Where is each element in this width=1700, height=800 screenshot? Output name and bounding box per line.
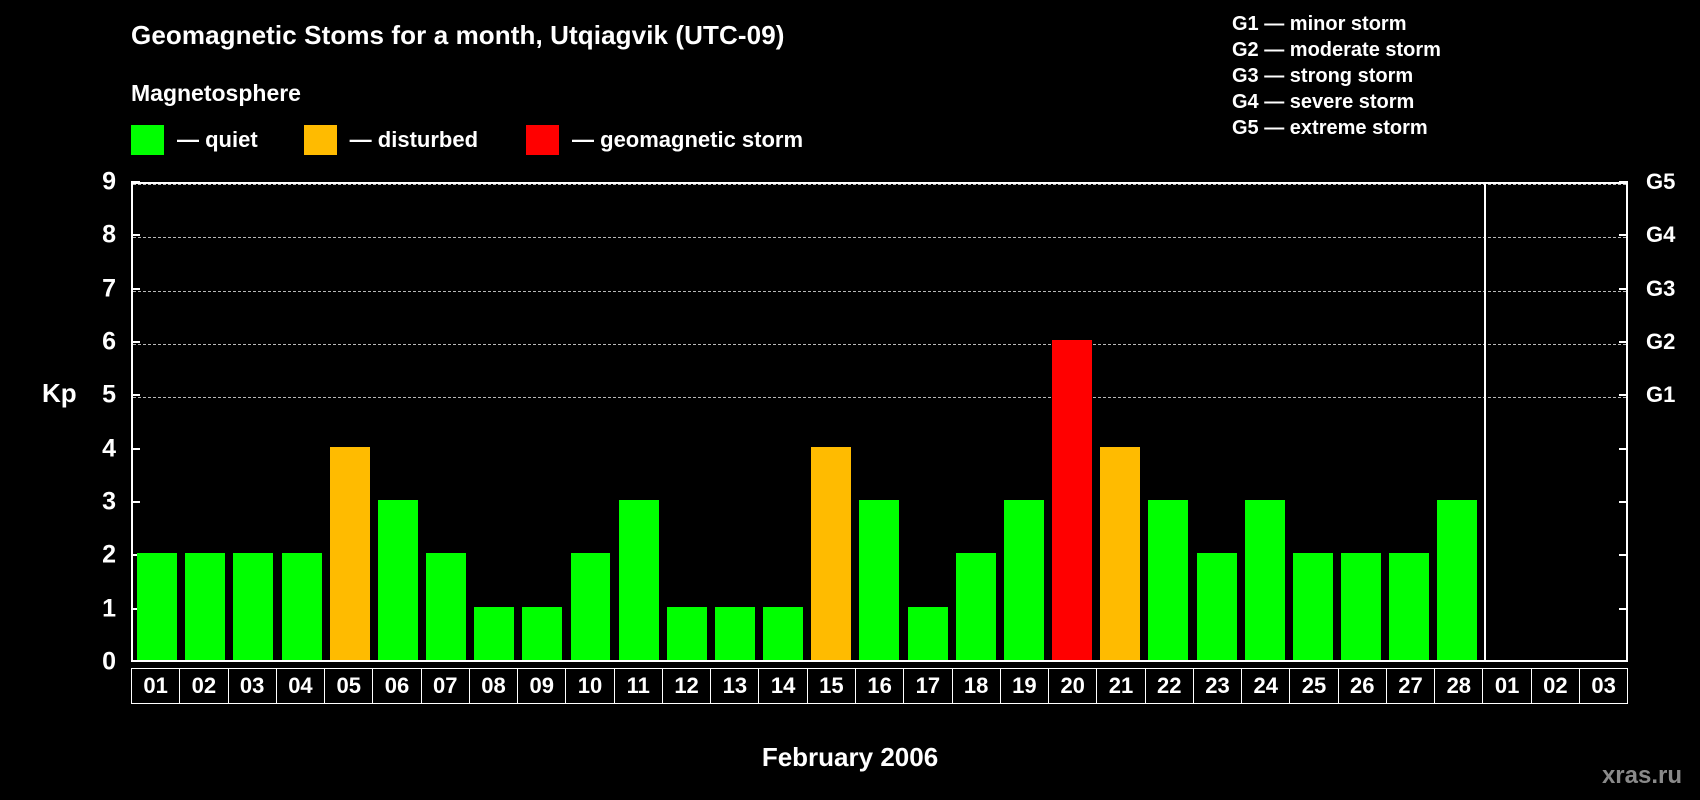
bar-09[interactable] <box>522 607 562 660</box>
bar-17[interactable] <box>908 607 948 660</box>
day-label-7[interactable]: 08 <box>469 668 518 704</box>
day-label-12[interactable]: 13 <box>710 668 759 704</box>
page-title: Geomagnetic Stoms for a month, Utqiagvik… <box>131 20 785 51</box>
bar-cell-22[interactable] <box>1144 184 1192 660</box>
day-label-17[interactable]: 18 <box>952 668 1001 704</box>
bar-21[interactable] <box>1100 447 1140 660</box>
bar-24[interactable] <box>1245 500 1285 660</box>
bar-cell-05[interactable] <box>326 184 374 660</box>
bar-27[interactable] <box>1389 553 1429 660</box>
y-tick-label-4: 4 <box>76 434 116 463</box>
bar-cell-28[interactable] <box>1433 184 1481 660</box>
y-tick-label-1: 1 <box>76 594 116 623</box>
bar-11[interactable] <box>619 500 659 660</box>
bar-08[interactable] <box>474 607 514 660</box>
day-label-22[interactable]: 23 <box>1193 668 1242 704</box>
day-label-4[interactable]: 05 <box>324 668 373 704</box>
bar-25[interactable] <box>1293 553 1333 660</box>
storm-scale-key: G1 — minor storm G2 — moderate storm G3 … <box>1232 11 1441 141</box>
legend-label-quiet: — quiet <box>177 127 258 153</box>
day-label-20[interactable]: 21 <box>1096 668 1145 704</box>
y-tick-label-3: 3 <box>76 488 116 517</box>
bar-03[interactable] <box>233 553 273 660</box>
bar-cell-26[interactable] <box>1337 184 1385 660</box>
bar-07[interactable] <box>426 553 466 660</box>
bar-cell-13[interactable] <box>711 184 759 660</box>
bar-cell-17[interactable] <box>904 184 952 660</box>
bar-cell-03[interactable] <box>229 184 277 660</box>
x-axis-day-labels: 0102030405060708091011121314151617181920… <box>131 668 1628 704</box>
y-axis-label: Kp <box>42 378 77 409</box>
x-axis-label: February 2006 <box>0 742 1700 773</box>
bar-cell-15[interactable] <box>807 184 855 660</box>
storm-scale-row-g5: G5 — extreme storm <box>1232 115 1441 141</box>
bar-01[interactable] <box>137 553 177 660</box>
bar-cell-21[interactable] <box>1096 184 1144 660</box>
day-label-2[interactable]: 03 <box>228 668 277 704</box>
bar-22[interactable] <box>1148 500 1188 660</box>
day-label-11[interactable]: 12 <box>662 668 711 704</box>
g-scale-tick-G2 <box>1619 341 1628 343</box>
bar-cell-27[interactable] <box>1385 184 1433 660</box>
storm-scale-row-g2: G2 — moderate storm <box>1232 37 1441 63</box>
bar-23[interactable] <box>1197 553 1237 660</box>
legend-label-storm: — geomagnetic storm <box>572 127 803 153</box>
bar-12[interactable] <box>667 607 707 660</box>
bar-cell-02[interactable] <box>181 184 229 660</box>
day-label-10[interactable]: 11 <box>614 668 663 704</box>
g-scale-minor-tick-kp-2 <box>1619 554 1628 556</box>
legend-swatch-disturbed <box>304 125 337 155</box>
bar-cell-10[interactable] <box>566 184 614 660</box>
day-label-6[interactable]: 07 <box>421 668 470 704</box>
bar-cell-01[interactable] <box>1481 184 1529 660</box>
bar-13[interactable] <box>715 607 755 660</box>
g-scale-tick-G4 <box>1619 234 1628 236</box>
g-scale-tick-G3 <box>1619 288 1628 290</box>
day-label-19[interactable]: 20 <box>1048 668 1097 704</box>
y-tick-label-6: 6 <box>76 328 116 357</box>
magnetosphere-heading: Magnetosphere <box>131 80 301 107</box>
day-label-25[interactable]: 26 <box>1338 668 1387 704</box>
y-tick-label-9: 9 <box>76 168 116 197</box>
day-label-23[interactable]: 24 <box>1241 668 1290 704</box>
legend-item-quiet: — quiet <box>131 125 258 155</box>
day-label-16[interactable]: 17 <box>903 668 952 704</box>
bar-02[interactable] <box>185 553 225 660</box>
legend-label-disturbed: — disturbed <box>350 127 478 153</box>
storm-scale-row-g3: G3 — strong storm <box>1232 63 1441 89</box>
g-scale-minor-tick-kp-1 <box>1619 608 1628 610</box>
bar-16[interactable] <box>859 500 899 660</box>
month-separator <box>1484 184 1486 660</box>
day-label-24[interactable]: 25 <box>1289 668 1338 704</box>
bar-cell-02[interactable] <box>1530 184 1578 660</box>
chart-plot-area <box>131 182 1628 662</box>
bar-cell-24[interactable] <box>1241 184 1289 660</box>
bar-04[interactable] <box>282 553 322 660</box>
g-scale-label-G3: G3 <box>1646 276 1675 302</box>
bar-cell-19[interactable] <box>1000 184 1048 660</box>
day-label-0[interactable]: 01 <box>131 668 180 704</box>
y-tick-label-2: 2 <box>76 541 116 570</box>
day-label-5[interactable]: 06 <box>372 668 421 704</box>
magnetosphere-legend: — quiet — disturbed — geomagnetic storm <box>131 125 803 155</box>
bar-cell-11[interactable] <box>615 184 663 660</box>
bar-cell-18[interactable] <box>952 184 1000 660</box>
bar-cell-07[interactable] <box>422 184 470 660</box>
day-label-9[interactable]: 10 <box>565 668 614 704</box>
day-label-28[interactable]: 01 <box>1482 668 1531 704</box>
bar-cell-09[interactable] <box>518 184 566 660</box>
storm-scale-row-g1: G1 — minor storm <box>1232 11 1441 37</box>
bar-cell-06[interactable] <box>374 184 422 660</box>
day-label-8[interactable]: 09 <box>517 668 566 704</box>
bar-cell-14[interactable] <box>759 184 807 660</box>
g-scale-minor-tick-kp-4 <box>1619 448 1628 450</box>
bar-05[interactable] <box>330 447 370 660</box>
bar-18[interactable] <box>956 553 996 660</box>
g-scale-tick-G5 <box>1619 181 1628 183</box>
day-label-13[interactable]: 14 <box>758 668 807 704</box>
day-label-26[interactable]: 27 <box>1386 668 1435 704</box>
bar-20[interactable] <box>1052 340 1092 660</box>
day-label-18[interactable]: 19 <box>1000 668 1049 704</box>
y-tick-label-5: 5 <box>76 381 116 410</box>
bar-cell-16[interactable] <box>855 184 903 660</box>
g-scale-minor-tick-kp-3 <box>1619 501 1628 503</box>
bar-cell-23[interactable] <box>1192 184 1240 660</box>
bar-cell-20[interactable] <box>1048 184 1096 660</box>
bar-cell-12[interactable] <box>663 184 711 660</box>
day-label-3[interactable]: 04 <box>276 668 325 704</box>
bar-26[interactable] <box>1341 553 1381 660</box>
bar-06[interactable] <box>378 500 418 660</box>
bar-cell-25[interactable] <box>1289 184 1337 660</box>
g-scale-label-G4: G4 <box>1646 222 1675 248</box>
bar-cell-08[interactable] <box>470 184 518 660</box>
bar-28[interactable] <box>1437 500 1477 660</box>
bar-15[interactable] <box>811 447 851 660</box>
storm-scale-row-g4: G4 — severe storm <box>1232 89 1441 115</box>
g-scale-label-G1: G1 <box>1646 382 1675 408</box>
y-tick-label-0: 0 <box>76 648 116 677</box>
day-label-15[interactable]: 16 <box>855 668 904 704</box>
y-tick-label-7: 7 <box>76 274 116 303</box>
bar-10[interactable] <box>571 553 611 660</box>
legend-item-disturbed: — disturbed <box>304 125 478 155</box>
bar-series <box>133 184 1626 660</box>
legend-swatch-quiet <box>131 125 164 155</box>
g-scale-label-G5: G5 <box>1646 169 1675 195</box>
legend-swatch-storm <box>526 125 559 155</box>
bar-cell-03[interactable] <box>1578 184 1626 660</box>
day-label-21[interactable]: 22 <box>1145 668 1194 704</box>
legend-item-storm: — geomagnetic storm <box>526 125 803 155</box>
bar-14[interactable] <box>763 607 803 660</box>
bar-cell-04[interactable] <box>277 184 325 660</box>
day-label-30[interactable]: 03 <box>1579 668 1628 704</box>
g-scale-label-G2: G2 <box>1646 329 1675 355</box>
bar-19[interactable] <box>1004 500 1044 660</box>
g-scale-tick-G1 <box>1619 394 1628 396</box>
watermark: xras.ru <box>1602 762 1682 790</box>
bar-cell-01[interactable] <box>133 184 181 660</box>
day-label-1[interactable]: 02 <box>179 668 228 704</box>
day-label-27[interactable]: 28 <box>1434 668 1483 704</box>
day-label-14[interactable]: 15 <box>807 668 856 704</box>
y-tick-label-8: 8 <box>76 221 116 250</box>
day-label-29[interactable]: 02 <box>1531 668 1580 704</box>
